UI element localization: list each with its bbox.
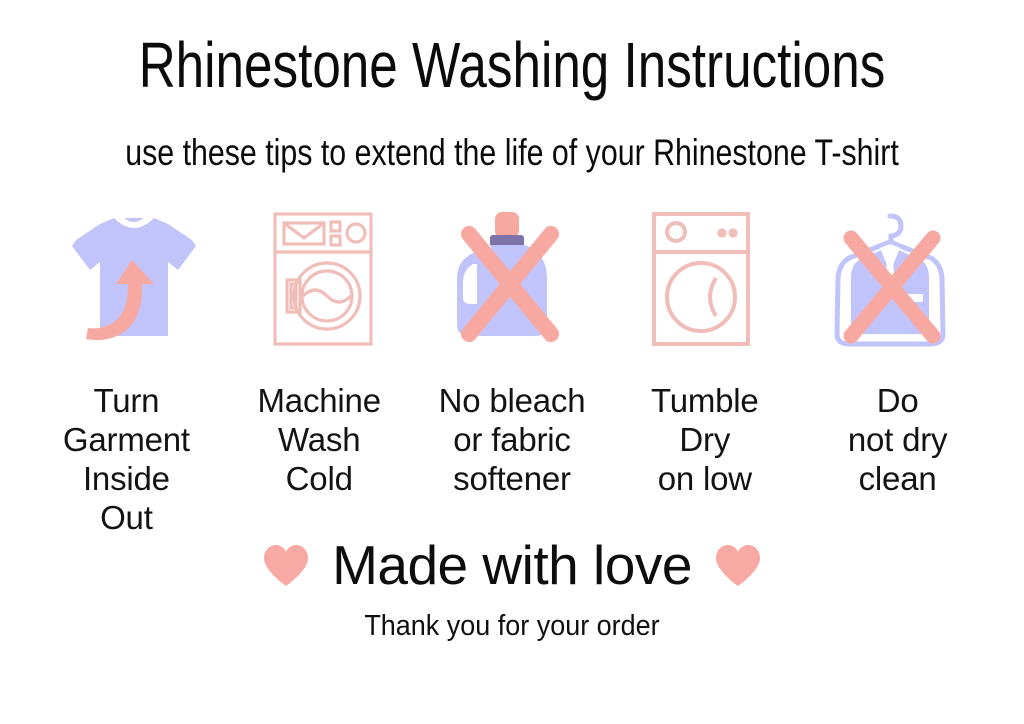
page-title: Rhinestone Washing Instructions xyxy=(102,32,921,99)
instruction-icon-cell xyxy=(795,208,984,368)
washing-instructions-card: Rhinestone Washing Instructions use thes… xyxy=(0,0,1024,724)
instruction-caption: No bleach or fabric softener xyxy=(416,382,609,499)
instruction-caption: Machine Wash Cold xyxy=(223,382,416,499)
washing-machine-icon xyxy=(271,208,375,350)
instruction-icon-cell xyxy=(229,208,418,368)
instruction-caption: Do not dry clean xyxy=(801,382,994,499)
instruction-icon-cell xyxy=(606,208,795,368)
instruction-caption-row: Turn Garment Inside Out Machine Wash Col… xyxy=(30,382,994,538)
no-dry-clean-icon xyxy=(825,208,955,358)
instruction-icon-row xyxy=(40,208,984,368)
heart-icon xyxy=(714,544,762,588)
tshirt-turn-inside-out-icon xyxy=(70,208,198,358)
made-with-love-text: Made with love xyxy=(332,538,692,593)
heart-icon xyxy=(262,544,310,588)
no-bleach-detergent-icon xyxy=(447,208,577,358)
instruction-caption: Tumble Dry on low xyxy=(608,382,801,499)
instruction-icon-cell xyxy=(418,208,607,368)
page-subtitle: use these tips to extend the life of you… xyxy=(92,133,932,174)
thank-you-text: Thank you for your order xyxy=(36,610,988,643)
tumble-dryer-icon xyxy=(650,208,752,350)
instruction-caption: Turn Garment Inside Out xyxy=(30,382,223,538)
made-with-love-row: Made with love xyxy=(0,538,1024,593)
instruction-icon-cell xyxy=(40,208,229,368)
